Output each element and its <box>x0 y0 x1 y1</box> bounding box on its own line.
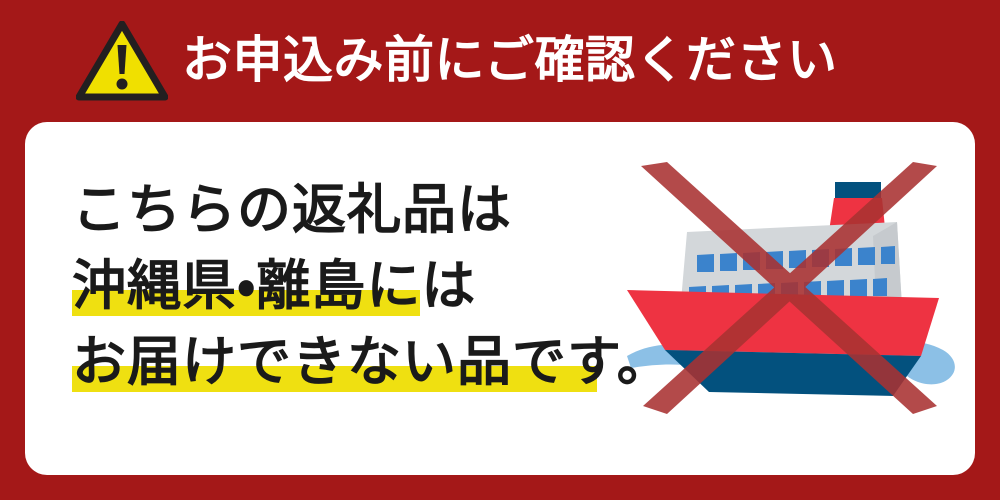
page-title: お申込み前にご確認ください <box>182 35 838 85</box>
message-line-text: 沖縄県・離島には <box>72 248 476 324</box>
message-line-text: こちらの返礼品は <box>72 172 512 248</box>
message-line: こちらの返礼品は <box>72 172 632 248</box>
warning-triangle-icon <box>76 21 168 101</box>
ship-prohibited-icon <box>621 160 961 420</box>
message-line: お届けできない品です。 <box>72 324 632 400</box>
message-line: 沖縄県・離島には <box>72 248 632 324</box>
banner-header: お申込み前にご確認ください <box>0 0 1000 118</box>
notice-card: こちらの返礼品は 沖縄県・離島には お届けできない品です。 <box>25 122 975 475</box>
message-line-text: お届けできない品です。 <box>72 324 672 400</box>
message-block: こちらの返礼品は 沖縄県・離島には お届けできない品です。 <box>72 172 632 400</box>
notice-banner: お申込み前にご確認ください こちらの返礼品は 沖縄県・離島には お届けできない品… <box>0 0 1000 500</box>
